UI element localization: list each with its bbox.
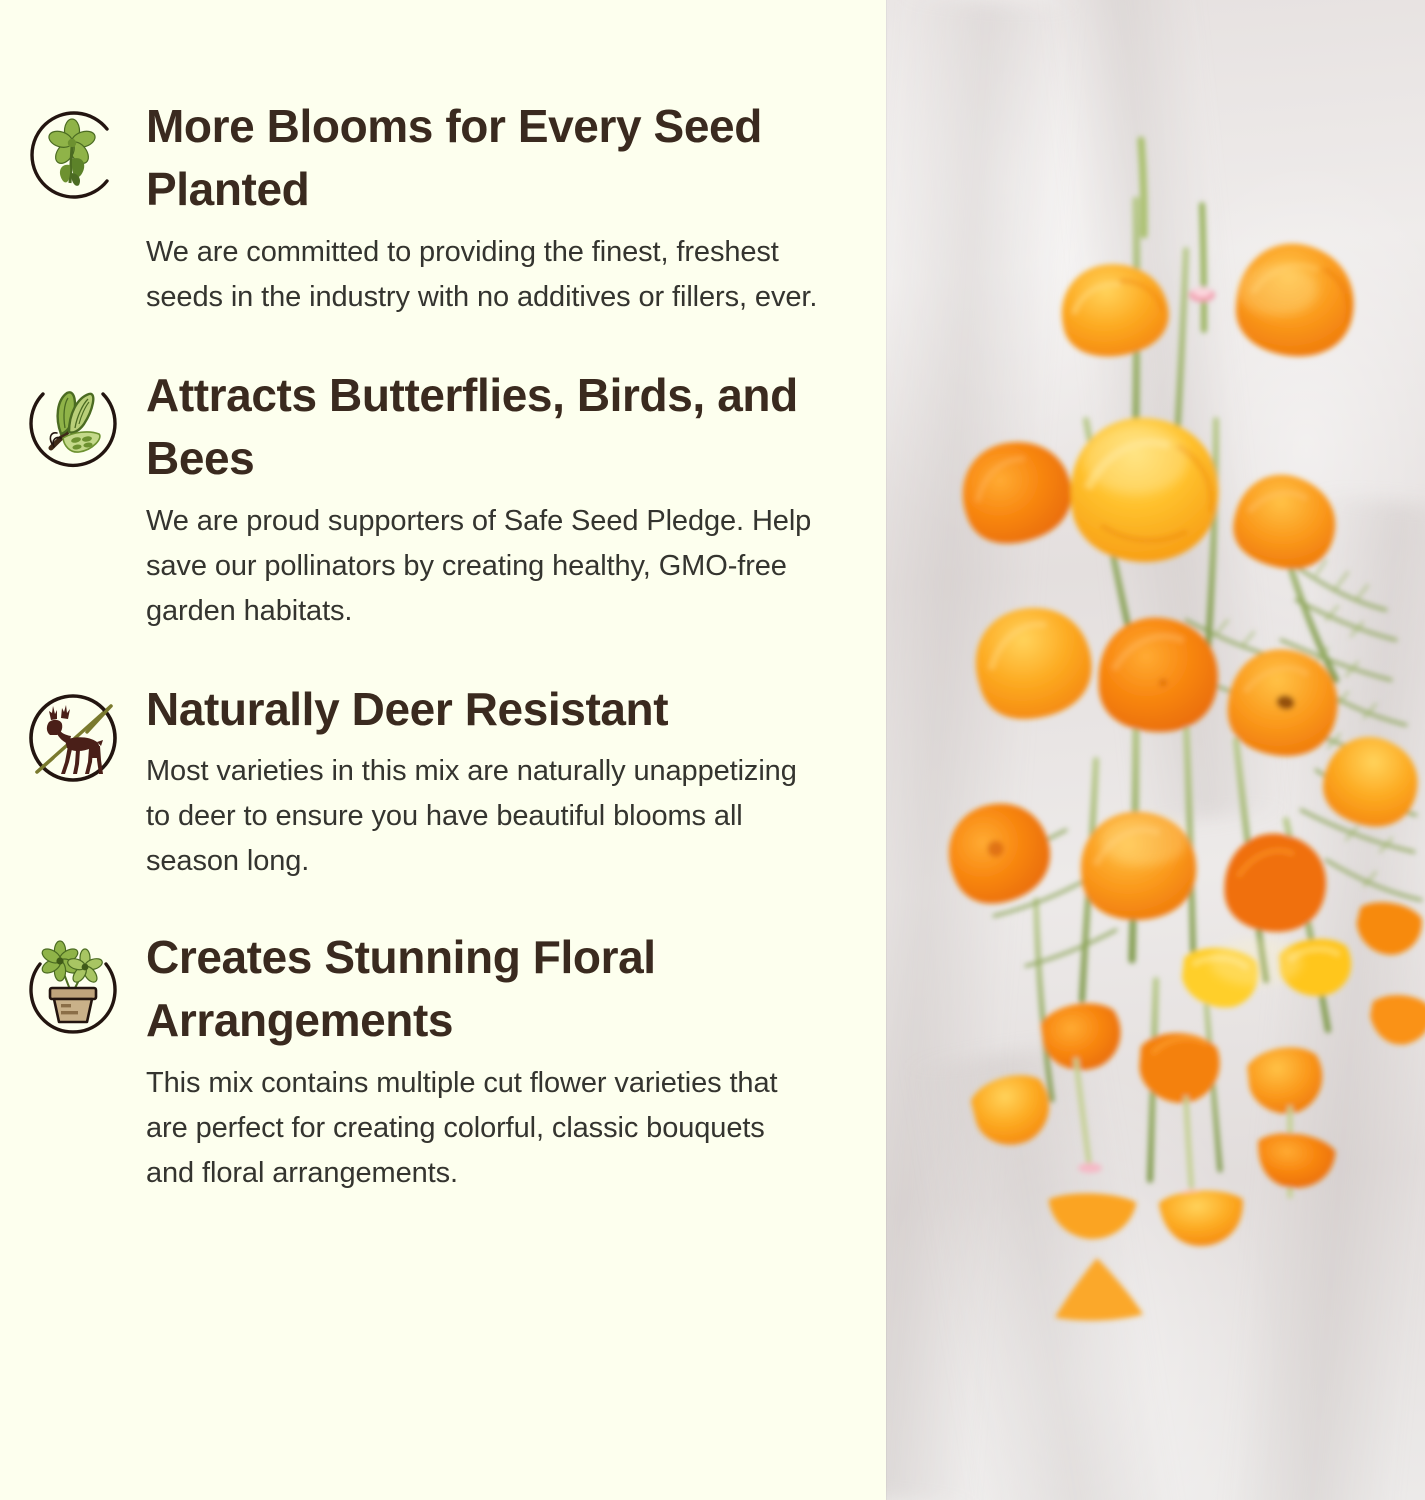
potted-plant-in-circle-icon (21, 934, 125, 1038)
feature-text-container: Naturally Deer Resistant Most varieties … (146, 678, 858, 884)
features-panel: More Blooms for Every Seed Planted We ar… (0, 0, 886, 1500)
feature-text-container: Attracts Butterflies, Birds, and Bees We… (146, 364, 858, 634)
flower-in-circle-icon (21, 103, 125, 207)
feature-item: Creates Stunning Floral Arrangements Thi… (0, 926, 886, 1196)
feature-text-container: More Blooms for Every Seed Planted We ar… (146, 95, 858, 320)
feature-description: Most varieties in this mix are naturally… (146, 749, 818, 884)
feature-text-container: Creates Stunning Floral Arrangements Thi… (146, 926, 858, 1196)
poppy-bouquet-illustration (886, 0, 1425, 1500)
feature-title: Naturally Deer Resistant (146, 678, 806, 741)
feature-item: Naturally Deer Resistant Most varieties … (0, 678, 886, 884)
feature-title: Creates Stunning Floral Arrangements (146, 926, 818, 1053)
feature-icon-container (0, 926, 146, 1038)
feature-title: Attracts Butterflies, Birds, and Bees (146, 364, 806, 491)
feature-list: More Blooms for Every Seed Planted We ar… (0, 95, 886, 1196)
butterfly-in-circle-icon (21, 372, 125, 476)
feature-icon-container (0, 95, 146, 207)
panel-divider (886, 0, 887, 1500)
no-deer-icon (21, 686, 125, 790)
feature-description: We are committed to providing the finest… (146, 230, 818, 320)
feature-description: This mix contains multiple cut flower va… (146, 1061, 818, 1196)
product-feature-panel: More Blooms for Every Seed Planted We ar… (0, 0, 1425, 1500)
feature-description: We are proud supporters of Safe Seed Ple… (146, 499, 818, 634)
product-photo (886, 0, 1425, 1500)
feature-icon-container (0, 364, 146, 476)
feature-icon-container (0, 678, 146, 790)
feature-item: Attracts Butterflies, Birds, and Bees We… (0, 364, 886, 634)
feature-title: More Blooms for Every Seed Planted (146, 95, 806, 222)
feature-item: More Blooms for Every Seed Planted We ar… (0, 95, 886, 320)
